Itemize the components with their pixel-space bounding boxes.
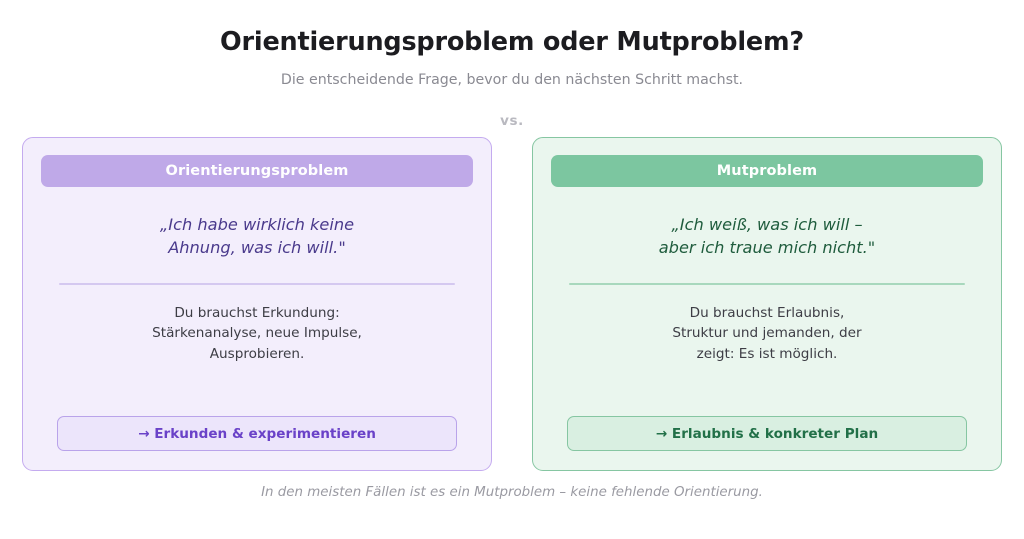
card-courage-quote: „Ich weiß, was ich will – aber ich traue… — [551, 213, 983, 260]
card-courage-body: Du brauchst Erlaubnis, Struktur und jema… — [551, 303, 983, 366]
card-orientation-divider — [59, 283, 455, 285]
body-line-1: Du brauchst Erlaubnis, — [565, 303, 969, 324]
page-subtitle: Die entscheidende Frage, bevor du den nä… — [0, 71, 1024, 89]
card-orientation-cta-button[interactable]: → Erkunden & experimentieren — [57, 416, 457, 451]
body-line-2: Struktur und jemanden, der — [565, 323, 969, 344]
quote-line-1: „Ich weiß, was ich will – — [565, 213, 969, 236]
card-courage-cta-button[interactable]: → Erlaubnis & konkreter Plan — [567, 416, 967, 451]
body-line-3: zeigt: Es ist möglich. — [565, 344, 969, 365]
quote-line-1: „Ich habe wirklich keine — [55, 213, 459, 236]
comparison-infographic: Orientierungsproblem oder Mutproblem? Di… — [0, 0, 1024, 539]
footer-note: In den meisten Fällen ist es ein Mutprob… — [0, 485, 1024, 500]
versus-label: vs. — [0, 113, 1024, 129]
quote-line-2: Ahnung, was ich will." — [55, 236, 459, 259]
page-title: Orientierungsproblem oder Mutproblem? — [0, 27, 1024, 58]
card-courage-header: Mutproblem — [551, 155, 983, 187]
card-courage-divider — [569, 283, 965, 285]
card-orientation-body: Du brauchst Erkundung: Stärkenanalyse, n… — [41, 303, 473, 366]
card-courage-problem: Mutproblem „Ich weiß, was ich will – abe… — [532, 137, 1002, 471]
body-line-2: Stärkenanalyse, neue Impulse, — [55, 323, 459, 344]
card-orientation-problem: Orientierungsproblem „Ich habe wirklich … — [22, 137, 492, 471]
comparison-cards: Orientierungsproblem „Ich habe wirklich … — [22, 137, 1002, 471]
card-orientation-quote: „Ich habe wirklich keine Ahnung, was ich… — [41, 213, 473, 260]
header-section: Orientierungsproblem oder Mutproblem? Di… — [0, 0, 1024, 89]
body-line-1: Du brauchst Erkundung: — [55, 303, 459, 324]
body-line-3: Ausprobieren. — [55, 344, 459, 365]
quote-line-2: aber ich traue mich nicht." — [565, 236, 969, 259]
card-orientation-header: Orientierungsproblem — [41, 155, 473, 187]
